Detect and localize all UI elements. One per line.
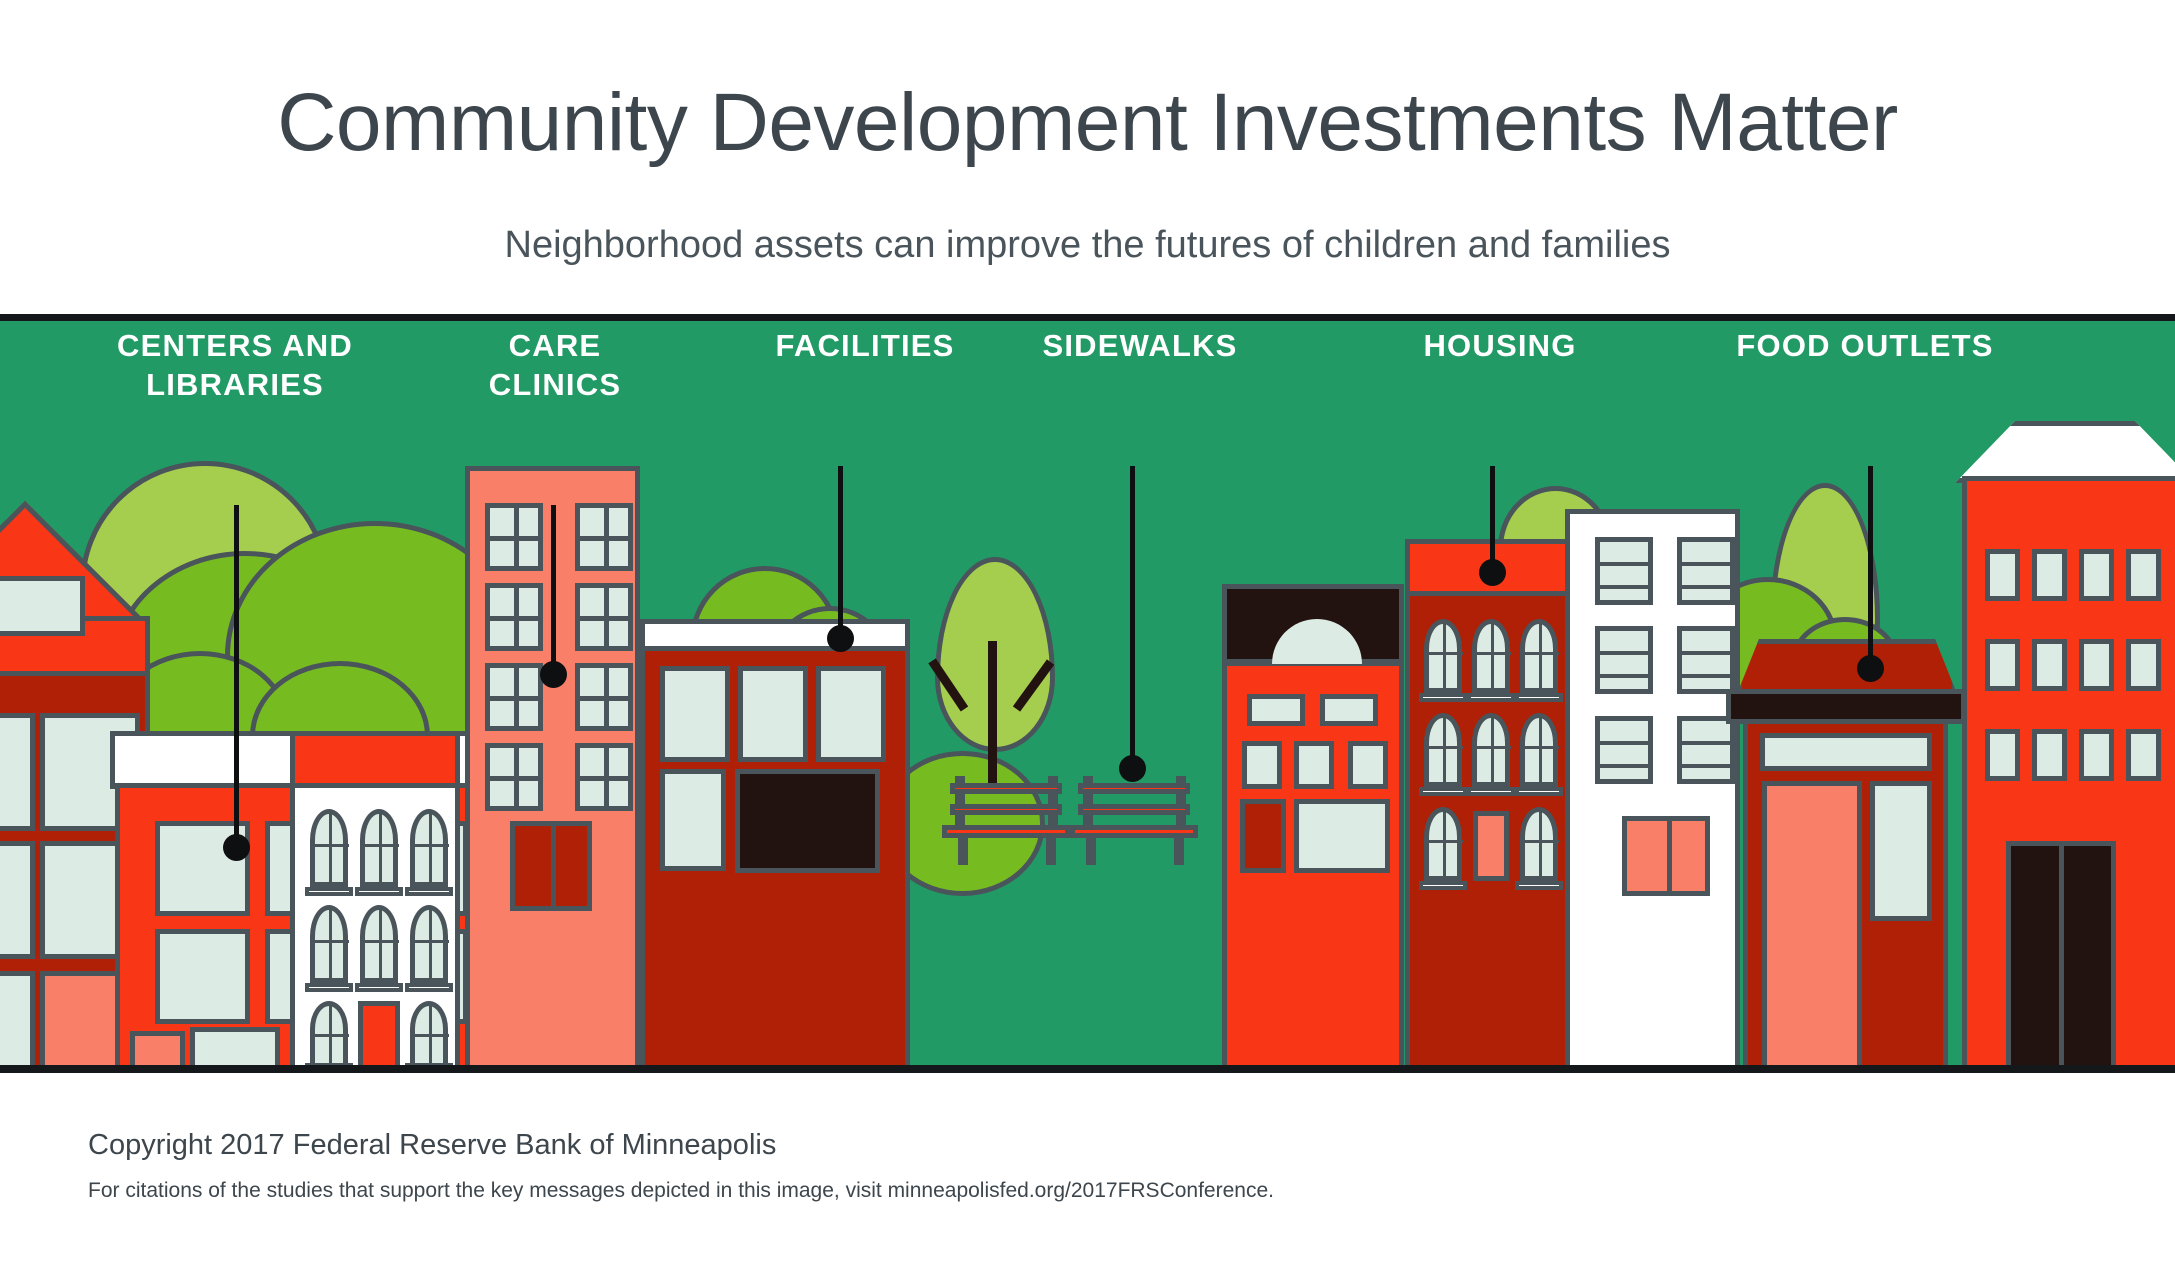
arched-window bbox=[1520, 807, 1558, 881]
apartment-double-door bbox=[1622, 816, 1710, 896]
connector-dot-community-centers bbox=[223, 834, 250, 861]
citation-text: For citations of the studies that suppor… bbox=[88, 1179, 1274, 1203]
arched-window bbox=[310, 905, 348, 983]
rowhouse-cornice bbox=[290, 731, 460, 789]
door bbox=[358, 1001, 400, 1073]
window bbox=[1985, 549, 2020, 601]
bench-backrest bbox=[950, 783, 1062, 794]
window bbox=[2032, 729, 2067, 781]
shop-window bbox=[1294, 799, 1390, 873]
arched-window bbox=[410, 1001, 448, 1071]
apartment-pediment bbox=[1955, 421, 2175, 483]
window bbox=[1677, 626, 1735, 694]
ground-line bbox=[0, 1065, 2175, 1073]
arched-window bbox=[1424, 807, 1462, 881]
door bbox=[1240, 799, 1286, 873]
window-sill bbox=[1515, 787, 1563, 796]
arched-window bbox=[1520, 713, 1558, 787]
arched-window bbox=[1472, 619, 1510, 693]
clinic-double-door bbox=[510, 821, 592, 911]
window bbox=[0, 841, 35, 959]
window bbox=[575, 743, 633, 811]
bench-backrest bbox=[1078, 783, 1190, 794]
window bbox=[485, 503, 543, 571]
connector-dot-affordable-housing bbox=[1479, 559, 1506, 586]
page-title: Community Development Investments Matter bbox=[0, 78, 2175, 168]
window bbox=[2126, 639, 2161, 691]
arched-window bbox=[1424, 713, 1462, 787]
window-sill bbox=[1419, 881, 1467, 890]
shop-window bbox=[1870, 781, 1932, 921]
label-healthy-food-outlets: HEALTHY FOOD OUTLETS bbox=[1645, 321, 2085, 365]
label-line: SIDEWALKS bbox=[940, 326, 1340, 365]
door bbox=[1473, 811, 1509, 881]
window bbox=[2079, 729, 2114, 781]
window bbox=[660, 769, 726, 871]
connector-line-health-care bbox=[551, 505, 556, 672]
connector-line-community-centers bbox=[234, 505, 239, 845]
store-door bbox=[1762, 781, 1862, 1073]
window bbox=[1677, 716, 1735, 784]
bench-leg bbox=[1086, 836, 1096, 865]
arched-window bbox=[410, 809, 448, 887]
window-sill bbox=[305, 887, 353, 896]
window bbox=[1595, 716, 1653, 784]
label-line: FOOD OUTLETS bbox=[1645, 326, 2085, 365]
window-sill bbox=[1419, 693, 1467, 702]
arched-window bbox=[1424, 619, 1462, 693]
apartment-entrance bbox=[2006, 841, 2116, 1073]
window bbox=[2032, 549, 2067, 601]
arched-window bbox=[410, 905, 448, 983]
window bbox=[1320, 694, 1378, 726]
window-sill bbox=[1515, 881, 1563, 890]
header-divider bbox=[0, 314, 2175, 321]
label-line: CLINICS bbox=[380, 365, 730, 404]
footer: Copyright 2017 Federal Reserve Bank of M… bbox=[0, 1073, 2175, 1274]
window-sill bbox=[1467, 693, 1515, 702]
window bbox=[660, 666, 730, 762]
window bbox=[575, 583, 633, 651]
arched-window bbox=[360, 809, 398, 887]
arched-window bbox=[310, 1001, 348, 1071]
window bbox=[485, 663, 543, 731]
connector-line-affordable-housing bbox=[1490, 466, 1495, 571]
window bbox=[1294, 741, 1334, 789]
window bbox=[2126, 729, 2161, 781]
copyright-text: Copyright 2017 Federal Reserve Bank of M… bbox=[88, 1129, 776, 1162]
window bbox=[2079, 549, 2114, 601]
window bbox=[2079, 639, 2114, 691]
arched-window bbox=[310, 809, 348, 887]
connector-dot-healthy-food bbox=[1857, 655, 1884, 682]
bench-backrest bbox=[1078, 804, 1190, 815]
window-sill bbox=[305, 983, 353, 992]
window bbox=[2126, 549, 2161, 601]
window bbox=[1985, 639, 2020, 691]
window bbox=[155, 929, 250, 1024]
page-subtitle: Neighborhood assets can improve the futu… bbox=[0, 222, 2175, 268]
connector-dot-health-care bbox=[540, 661, 567, 688]
window bbox=[1595, 537, 1653, 605]
bench-seat bbox=[1070, 825, 1198, 838]
bench-leg bbox=[1174, 836, 1184, 865]
window bbox=[575, 503, 633, 571]
window bbox=[1242, 741, 1282, 789]
window-sill bbox=[355, 983, 403, 992]
label-parks-and-sidewalks: PARKS AND SIDEWALKS bbox=[940, 321, 1340, 365]
grocery-roof bbox=[1737, 639, 1957, 694]
arched-window bbox=[1520, 619, 1558, 693]
header: Community Development Investments Matter… bbox=[0, 0, 2175, 318]
connector-dot-childcare bbox=[827, 625, 854, 652]
window bbox=[485, 743, 543, 811]
tree-trunk bbox=[988, 641, 997, 786]
window bbox=[2032, 639, 2067, 691]
bench-leg bbox=[1046, 836, 1056, 865]
connector-dot-parks bbox=[1119, 755, 1146, 782]
window bbox=[485, 583, 543, 651]
arched-window bbox=[1472, 713, 1510, 787]
streetscape-illustration: COMMUNITY CENTERS AND LIBRARIES HEALTH C… bbox=[0, 321, 2175, 1073]
bench-backrest bbox=[950, 804, 1062, 815]
grocery-awning bbox=[1726, 689, 1966, 724]
arched-window bbox=[360, 905, 398, 983]
window-sill bbox=[1467, 787, 1515, 796]
window-sill bbox=[405, 983, 453, 992]
attic-window bbox=[0, 576, 85, 636]
window bbox=[816, 666, 886, 762]
bench-leg bbox=[958, 836, 968, 865]
window bbox=[1595, 626, 1653, 694]
connector-line-healthy-food bbox=[1868, 466, 1873, 666]
window bbox=[0, 713, 35, 831]
window-sill bbox=[1515, 693, 1563, 702]
window bbox=[1985, 729, 2020, 781]
window bbox=[1348, 741, 1388, 789]
window bbox=[1677, 537, 1735, 605]
window-sill bbox=[355, 887, 403, 896]
entrance bbox=[735, 769, 880, 873]
infographic-page: Community Development Investments Matter… bbox=[0, 0, 2175, 1274]
window bbox=[1247, 694, 1305, 726]
window bbox=[0, 971, 35, 1073]
window-sill bbox=[1419, 787, 1467, 796]
window-sill bbox=[405, 887, 453, 896]
connector-line-parks bbox=[1130, 466, 1135, 766]
window bbox=[738, 666, 808, 762]
connector-line-childcare bbox=[838, 466, 843, 636]
bench-seat bbox=[942, 825, 1070, 838]
store-sign bbox=[1760, 733, 1932, 771]
window bbox=[575, 663, 633, 731]
